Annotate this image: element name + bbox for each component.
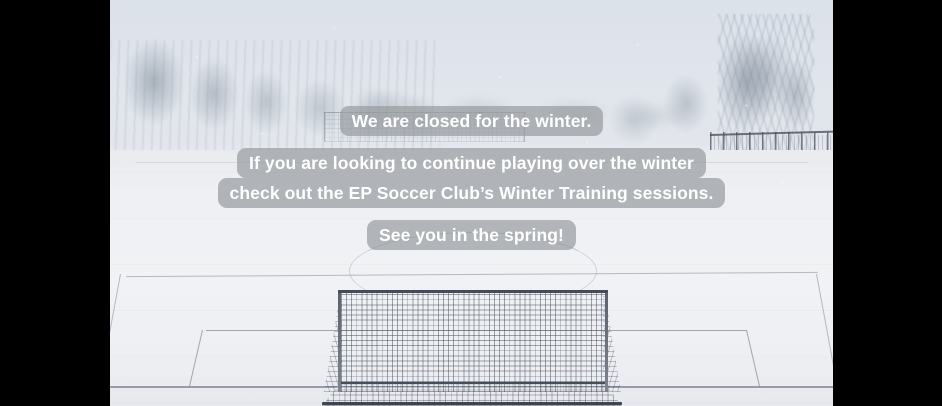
letterbox-bar-right <box>833 0 942 406</box>
banner-stage: We are closed for the winter. If you are… <box>0 0 942 406</box>
letterbox-bar-left <box>0 0 110 406</box>
far-goal-crossbar <box>324 112 526 113</box>
tree-line-left-icon <box>110 16 436 146</box>
far-goal-post-right <box>524 112 525 142</box>
tree-line-mid-icon <box>350 58 690 132</box>
snow-field <box>110 150 833 406</box>
tall-bare-tree-icon <box>718 14 814 164</box>
fence-rail-top <box>710 127 833 135</box>
far-goal-net <box>325 113 525 142</box>
tree-trunks-left-icon <box>110 40 440 152</box>
far-goal-post-left <box>324 112 325 142</box>
far-goal-icon <box>324 112 526 144</box>
background-photo <box>110 0 833 406</box>
sky-haze <box>110 0 833 150</box>
